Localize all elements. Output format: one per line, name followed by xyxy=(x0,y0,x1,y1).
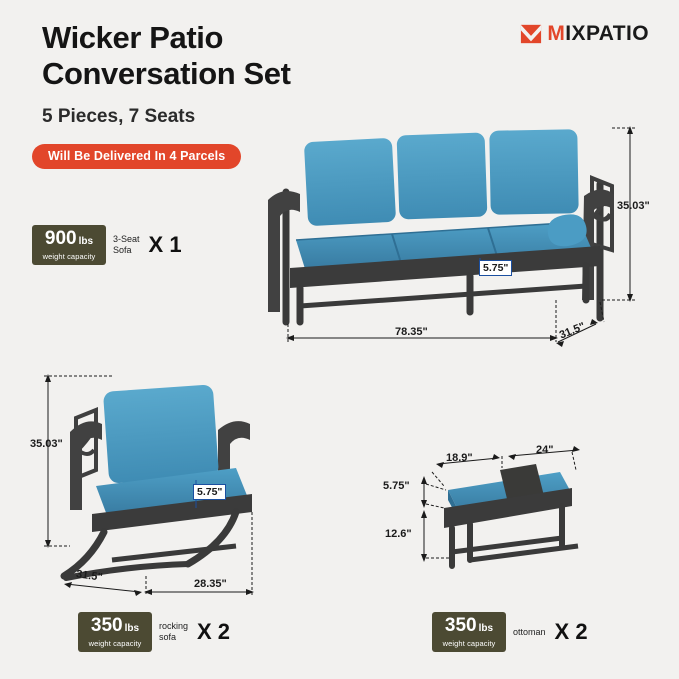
sofa-capacity-group: 900lbs weight capacity 3-Seat Sofa X 1 xyxy=(32,225,182,265)
m-logo-icon xyxy=(520,23,542,45)
rocking-sofa-height-label: 35.03" xyxy=(30,438,63,450)
sofa-width-label: 78.35" xyxy=(395,326,428,338)
brand-name-rest: IXPATIO xyxy=(565,22,649,45)
sofa-type-line1: 3-Seat xyxy=(113,234,140,244)
ottoman-type-line1: ottoman xyxy=(513,627,546,637)
ottoman-quantity: X 2 xyxy=(555,619,588,645)
page-title-line2: Conversation Set xyxy=(42,56,291,91)
page-title: Wicker Patio Conversation Set xyxy=(42,20,291,92)
rocking-sofa-capacity-group: 350lbs weight capacity rocking sofa X 2 xyxy=(78,612,230,652)
ottoman-capacity-unit: lbs xyxy=(479,623,493,634)
rocking-sofa-width-label: 28.35" xyxy=(194,578,227,590)
ottoman-capacity-value: 350 xyxy=(445,615,477,636)
rocking-sofa-capacity-value: 350 xyxy=(91,615,123,636)
ottoman-height-label: 12.6" xyxy=(385,528,412,540)
sofa-quantity: X 1 xyxy=(149,232,182,258)
sofa-dimension-lines xyxy=(286,126,636,347)
sofa-seat-height-label: 5.75" xyxy=(479,260,512,276)
sofa-capacity-label: weight capacity xyxy=(40,252,98,261)
sofa-capacity-value-row: 900lbs xyxy=(40,229,98,251)
ottoman-capacity-value-row: 350lbs xyxy=(440,616,498,638)
ottoman-illustration xyxy=(444,464,578,566)
product-spec-sheet: Wicker Patio Conversation Set 5 Pieces, … xyxy=(0,0,679,679)
page-subtitle: 5 Pieces, 7 Seats xyxy=(42,106,195,128)
sofa-type-label: 3-Seat Sofa xyxy=(113,234,140,256)
brand-name: MIXPATIO xyxy=(547,22,649,46)
sofa-depth-label: 31.5" xyxy=(558,320,587,341)
rocking-sofa-illustration xyxy=(64,384,252,578)
sofa-height-label: 35.03" xyxy=(617,200,650,212)
rocking-sofa-seat-height-label: 5.75" xyxy=(193,484,226,500)
rocking-sofa-depth-label: 31.5" xyxy=(75,568,103,584)
rocking-sofa-capacity-badge: 350lbs weight capacity xyxy=(78,612,152,652)
page-title-line1: Wicker Patio xyxy=(42,20,223,55)
ottoman-width-label: 24" xyxy=(536,444,553,456)
rocking-sofa-type-line1: rocking xyxy=(159,621,188,631)
sofa-capacity-value: 900 xyxy=(45,228,77,249)
ottoman-capacity-label: weight capacity xyxy=(440,639,498,648)
ottoman-depth-label: 18.9" xyxy=(446,452,473,464)
ottoman-capacity-group: 350lbs weight capacity ottoman X 2 xyxy=(432,612,588,652)
ottoman-type-label: ottoman xyxy=(513,627,546,638)
brand-logo: MIXPATIO xyxy=(520,22,649,46)
rocking-sofa-quantity: X 2 xyxy=(197,619,230,645)
rocking-sofa-capacity-unit: lbs xyxy=(125,623,139,634)
delivery-badge: Will Be Delivered In 4 Parcels xyxy=(32,144,241,169)
sofa-type-line2: Sofa xyxy=(113,245,132,255)
ottoman-cushion-height-label: 5.75" xyxy=(383,480,410,492)
brand-name-accent: M xyxy=(547,22,565,45)
ottoman-dimension-lines xyxy=(421,446,580,562)
sofa-capacity-badge: 900lbs weight capacity xyxy=(32,225,106,265)
rocking-sofa-type-line2: sofa xyxy=(159,632,176,642)
rocking-sofa-capacity-value-row: 350lbs xyxy=(86,616,144,638)
ottoman-capacity-badge: 350lbs weight capacity xyxy=(432,612,506,652)
sofa-capacity-unit: lbs xyxy=(79,236,93,247)
sofa-illustration xyxy=(268,129,614,322)
rocking-sofa-type-label: rocking sofa xyxy=(159,621,188,643)
rocking-sofa-capacity-label: weight capacity xyxy=(86,639,144,648)
